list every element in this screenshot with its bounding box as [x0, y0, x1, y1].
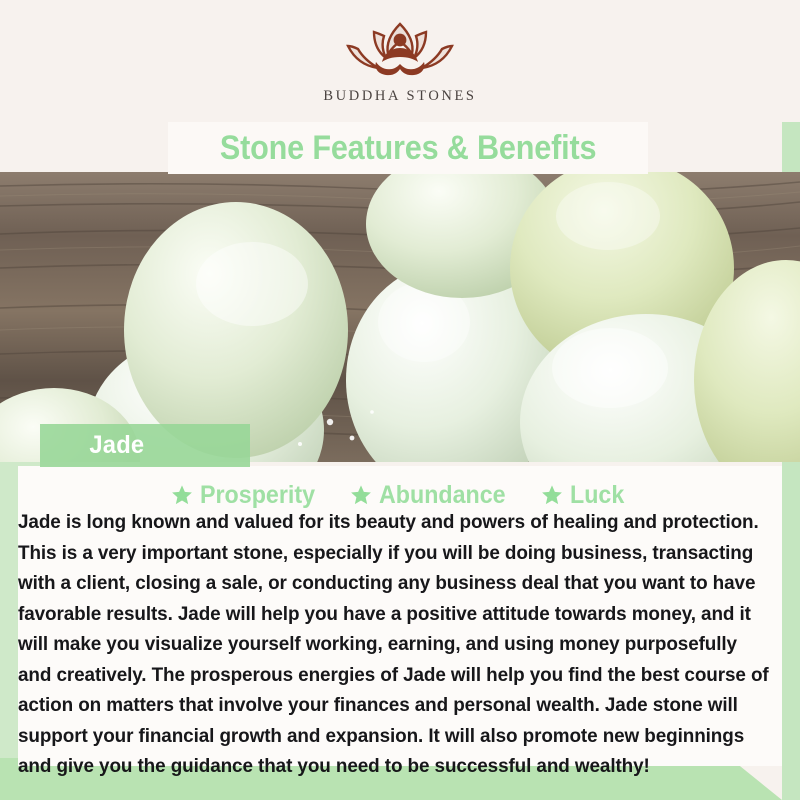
star-icon — [171, 484, 193, 506]
infographic-card: BUDDHA STONES Stone Features & Benefits … — [0, 0, 800, 800]
benefit-item: Abundance — [350, 481, 515, 510]
benefit-label: Abundance — [379, 481, 506, 510]
benefit-label: Luck — [570, 481, 624, 510]
benefits-row: Prosperity Abundance Luck — [0, 478, 800, 512]
page-title: Stone Features & Benefits — [220, 129, 596, 168]
lotus-meditation-icon — [324, 18, 476, 84]
stone-name-label: Jade — [40, 431, 144, 460]
benefit-label: Prosperity — [200, 481, 315, 510]
star-icon — [541, 484, 563, 506]
brand-name: BUDDHA STONES — [323, 88, 476, 105]
stone-photo — [0, 172, 800, 462]
stone-name-badge: Jade — [40, 424, 250, 467]
benefit-item: Prosperity — [171, 481, 324, 510]
brand-header: BUDDHA STONES — [0, 0, 800, 122]
description-block: Jade is long known and valued for its be… — [0, 508, 800, 783]
description-text: Jade is long known and valued for its be… — [18, 508, 771, 783]
star-icon — [350, 484, 372, 506]
title-banner: Stone Features & Benefits — [168, 122, 648, 174]
benefit-item: Luck — [541, 481, 628, 510]
